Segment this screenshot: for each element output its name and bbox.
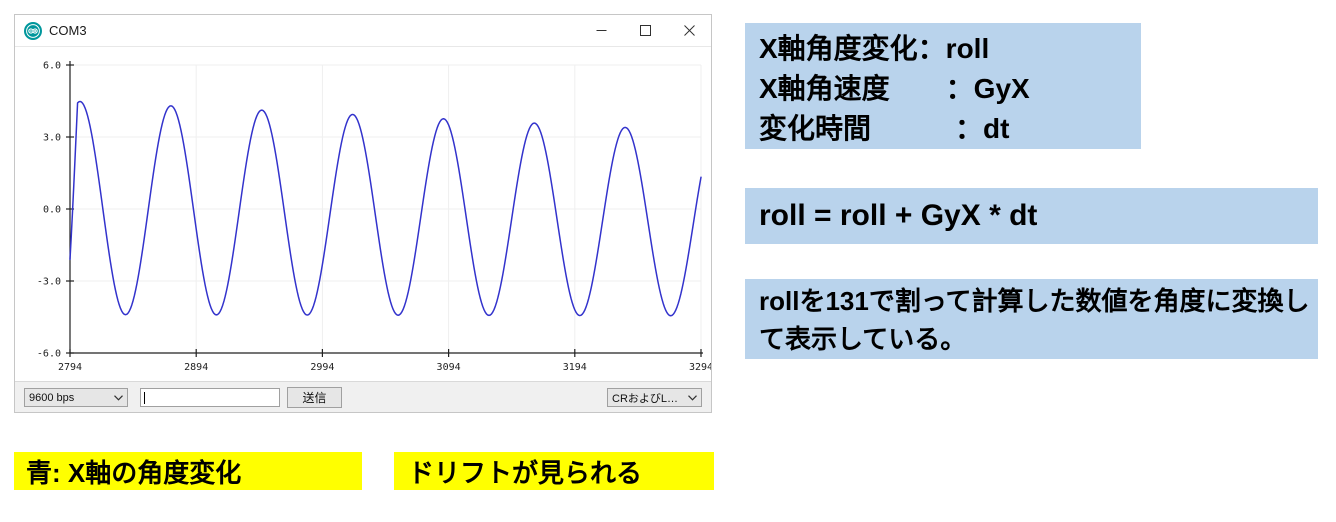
note-variables-line-2: X軸角速度 ：GyX [759, 69, 1141, 109]
svg-text:2894: 2894 [184, 362, 208, 373]
maximize-icon[interactable] [623, 15, 667, 46]
note-variables: X軸角度変化：roll X軸角速度 ：GyX 変化時間 ：dt [745, 23, 1141, 149]
arduino-infinity-icon [24, 22, 42, 40]
baud-rate-value: 9600 bps [29, 392, 110, 404]
svg-text:2994: 2994 [310, 362, 334, 373]
svg-text:3.0: 3.0 [43, 133, 61, 144]
close-icon[interactable] [667, 15, 711, 46]
note-variables-line-3: 変化時間 ：dt [759, 109, 1141, 149]
baud-rate-select[interactable]: 9600 bps [24, 388, 128, 407]
send-input[interactable] [140, 388, 280, 407]
caption-blue-legend: 青: X軸の角度変化 [14, 452, 362, 490]
svg-text:-3.0: -3.0 [37, 277, 61, 288]
svg-text:3294: 3294 [689, 362, 711, 373]
chevron-down-icon [688, 392, 697, 404]
minimize-icon[interactable] [579, 15, 623, 46]
chevron-down-icon [114, 392, 123, 404]
svg-text:3194: 3194 [563, 362, 587, 373]
plot-canvas: 6.03.00.0-3.0-6.0 2794289429943094319432… [15, 47, 711, 381]
svg-text:3094: 3094 [437, 362, 461, 373]
note-formula: roll = roll + GyX * dt [745, 188, 1318, 244]
window-title: COM3 [49, 22, 87, 40]
serial-monitor-window: COM3 6.03.00.0-3.0-6.0 27942894299430943… [14, 14, 712, 413]
svg-text:6.0: 6.0 [43, 61, 61, 72]
svg-text:2794: 2794 [58, 362, 82, 373]
text-caret [144, 392, 145, 404]
caption-drift: ドリフトが見られる [394, 452, 714, 490]
serial-monitor-toolbar: 9600 bps 送信 CRおよびL… [15, 381, 711, 412]
note-variables-line-1: X軸角度変化：roll [759, 29, 1141, 69]
svg-text:-6.0: -6.0 [37, 349, 61, 360]
note-description: rollを131で割って計算した数値を角度に変換して表示している。 [745, 279, 1318, 359]
window-titlebar: COM3 [15, 15, 711, 47]
send-button[interactable]: 送信 [287, 387, 342, 408]
svg-text:0.0: 0.0 [43, 205, 61, 216]
serial-plotter-chart: 6.03.00.0-3.0-6.0 2794289429943094319432… [15, 47, 711, 381]
line-ending-select[interactable]: CRおよびL… [607, 388, 702, 407]
line-ending-value: CRおよびL… [612, 390, 684, 406]
